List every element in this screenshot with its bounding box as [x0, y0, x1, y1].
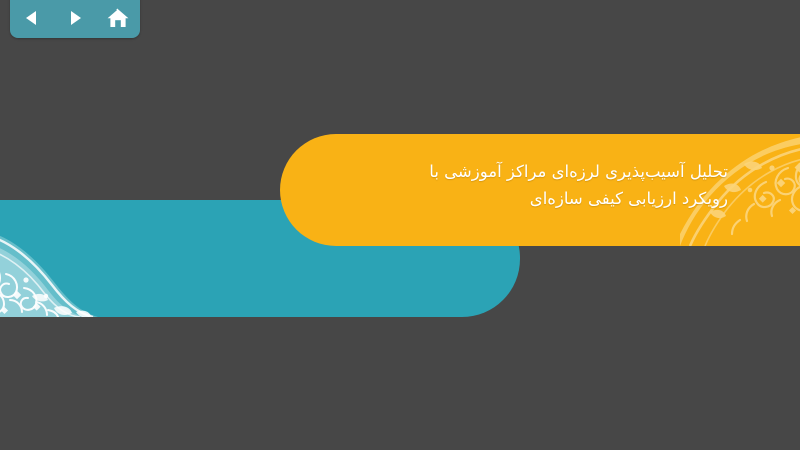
previous-slide-button[interactable] [15, 3, 49, 33]
presentation-slide: تحلیل آسیب‌پذیری لرزه‌ای مراکز آموزشی با… [0, 0, 800, 450]
home-button[interactable] [101, 3, 135, 33]
navigation-bar [10, 0, 140, 38]
next-slide-button[interactable] [58, 3, 92, 33]
home-icon [106, 7, 130, 29]
slide-title-line-2: رویکرد ارزیابی کیفی سازه‌ای [320, 185, 728, 212]
slide-title-line-1: تحلیل آسیب‌پذیری لرزه‌ای مراکز آموزشی با [320, 158, 728, 185]
arabesque-ornament-teal [0, 200, 150, 317]
slide-title: تحلیل آسیب‌پذیری لرزه‌ای مراکز آموزشی با… [320, 158, 728, 212]
triangle-left-icon [22, 8, 42, 28]
title-banner: تحلیل آسیب‌پذیری لرزه‌ای مراکز آموزشی با… [280, 134, 800, 246]
triangle-right-icon [65, 8, 85, 28]
